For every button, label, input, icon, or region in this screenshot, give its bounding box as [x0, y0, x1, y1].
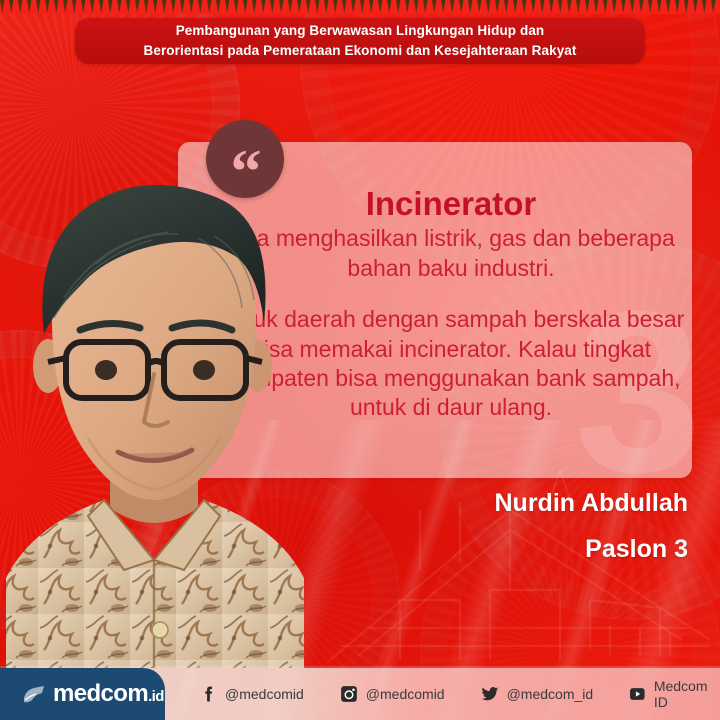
- poster-canvas: Pembangunan yang Berwawasan Lingkungan H…: [0, 0, 720, 720]
- youtube-icon: [629, 685, 646, 703]
- youtube-handle: Medcom ID: [654, 678, 720, 710]
- speaker-name: Nurdin Abdullah: [495, 489, 689, 518]
- instagram-icon: [340, 685, 358, 703]
- medcom-bird-icon: [22, 684, 46, 704]
- social-youtube[interactable]: Medcom ID: [629, 678, 720, 710]
- social-twitter[interactable]: @medcom_id: [481, 685, 594, 703]
- quote-headline: Incinerator: [366, 186, 537, 222]
- zigzag-top-border: [0, 0, 720, 14]
- footer-bar: medcom.id @medcomid @medcomid @medcom_id: [0, 668, 720, 720]
- headline-banner: Pembangunan yang Berwawasan Lingkungan H…: [75, 18, 645, 64]
- social-links: @medcomid @medcomid @medcom_id Medcom ID: [165, 678, 720, 710]
- double-quote-icon: “: [231, 141, 260, 203]
- instagram-handle: @medcomid: [366, 686, 445, 702]
- medcom-logo[interactable]: medcom.id: [0, 668, 165, 720]
- twitter-handle: @medcom_id: [507, 686, 594, 702]
- facebook-icon: [199, 685, 217, 703]
- twitter-icon: [481, 685, 499, 703]
- speaker-portrait: [0, 108, 322, 668]
- social-facebook[interactable]: @medcomid: [199, 685, 304, 703]
- facebook-handle: @medcomid: [225, 686, 304, 702]
- speaker-role: Paslon 3: [585, 535, 688, 564]
- banner-text: Pembangunan yang Berwawasan Lingkungan H…: [127, 21, 592, 60]
- quote-mark-badge: “: [206, 120, 284, 198]
- social-instagram[interactable]: @medcomid: [340, 685, 445, 703]
- medcom-logo-text: medcom.id: [53, 680, 164, 708]
